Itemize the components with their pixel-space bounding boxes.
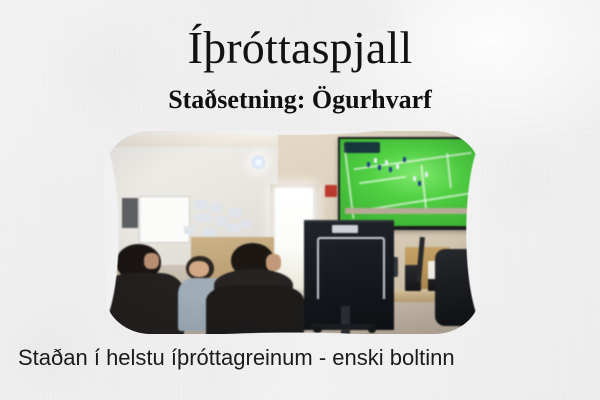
board-leg xyxy=(341,306,349,334)
person-1-face xyxy=(144,253,159,269)
poster-canvas: Íþróttaspjall Staðsetning: Ögurhvarf xyxy=(0,0,600,400)
notice-board xyxy=(139,196,190,243)
photo-caption: Staðan í helstu íþróttagreinum - enski b… xyxy=(18,344,584,372)
page-title: Íþróttaspjall xyxy=(0,22,600,74)
location-subtitle: Staðsetning: Ögurhvarf xyxy=(0,85,600,115)
television xyxy=(338,137,481,230)
shelf-strip xyxy=(345,208,480,214)
exit-sign xyxy=(325,185,337,197)
ceiling-light xyxy=(251,155,266,169)
person-2-face xyxy=(189,261,209,277)
board-label xyxy=(332,225,358,232)
person-1-body xyxy=(105,273,184,334)
wall-poster-dark xyxy=(122,198,138,228)
person-3-body xyxy=(206,285,304,334)
person-3-face xyxy=(266,254,281,271)
event-photo xyxy=(105,131,480,334)
scoreboard-graphic xyxy=(344,142,380,153)
office-chair xyxy=(435,249,476,326)
caster-right xyxy=(368,326,377,333)
photo-scene xyxy=(105,131,480,334)
board-handle xyxy=(317,237,385,300)
caster-left xyxy=(313,326,322,333)
